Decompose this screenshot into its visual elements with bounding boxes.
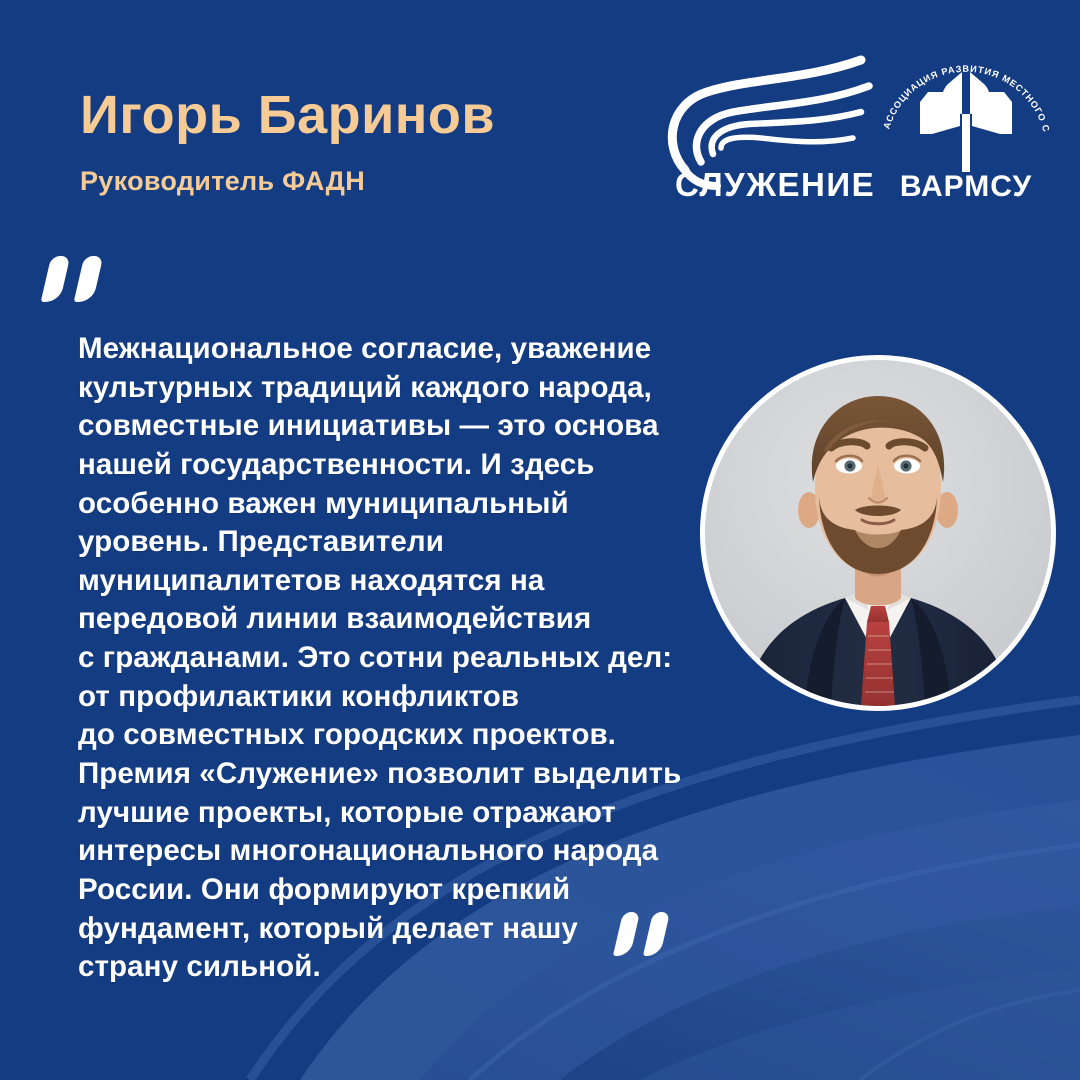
quote-card: Игорь Баринов Руководитель ФАДН СЛУЖЕНИЕ… [0, 0, 1080, 1080]
quote-text: Межнациональное согласие, уважение культ… [78, 330, 718, 987]
quote-open-mark-icon [46, 256, 126, 306]
avatar [700, 355, 1056, 711]
sluzhenie-logo[interactable]: СЛУЖЕНИЕ [655, 42, 885, 212]
varmsu-logo[interactable]: ВСЕРОССИЙСКАЯ АССОЦИАЦИЯ РАЗВИТИЯ МЕСТНО… [866, 22, 1066, 222]
speaker-role: Руководитель ФАДН [80, 168, 365, 195]
quote-close-mark-icon [618, 912, 688, 962]
sluzhenie-wordmark: СЛУЖЕНИЕ [675, 168, 885, 201]
portrait-illustration [705, 360, 1051, 706]
varmsu-wordmark: ВАРМСУ [866, 172, 1066, 202]
page-title: Игорь Баринов [80, 88, 495, 142]
